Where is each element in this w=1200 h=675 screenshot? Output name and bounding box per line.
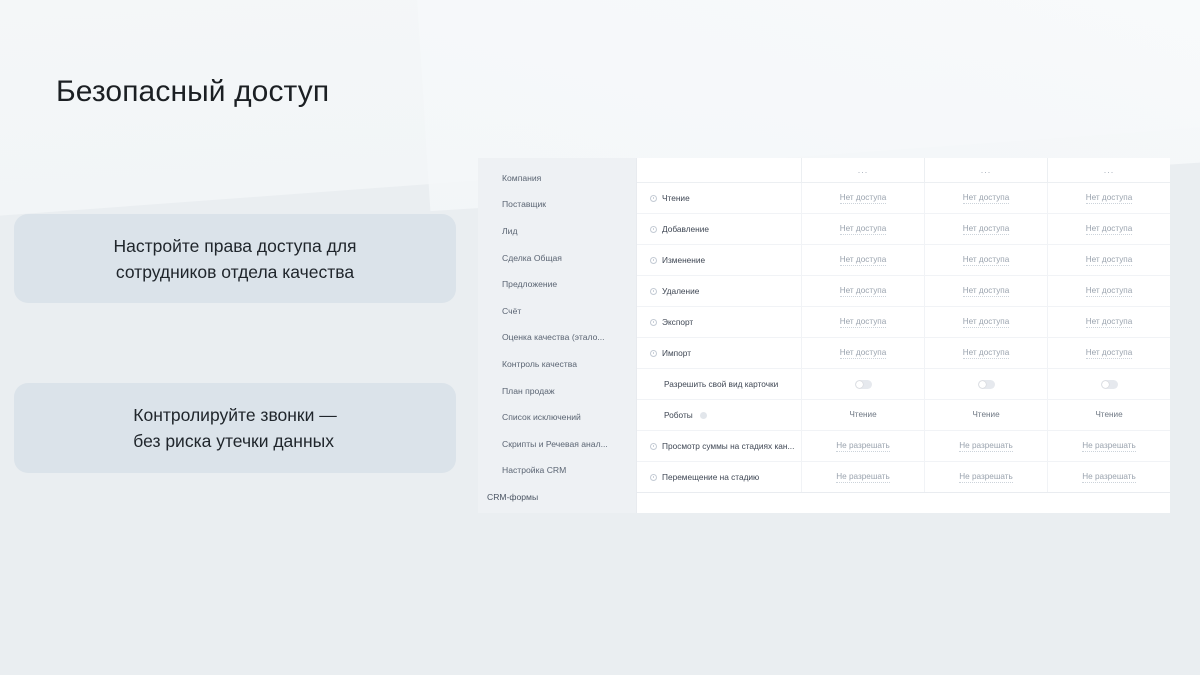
permission-value-cell[interactable]: Нет доступа [1047, 307, 1170, 337]
permission-name-cell: Добавление [637, 214, 801, 244]
permission-label: Роботы [664, 410, 693, 420]
permission-value: Чтение [849, 410, 876, 420]
table-row: ИмпортНет доступаНет доступаНет доступа [637, 338, 1170, 369]
table-row: ДобавлениеНет доступаНет доступаНет дост… [637, 214, 1170, 245]
permission-value-cell[interactable]: Нет доступа [1047, 338, 1170, 368]
permission-name-cell: Просмотр суммы на стадиях кан... [637, 431, 801, 461]
permission-label: Просмотр суммы на стадиях кан... [662, 441, 794, 451]
permission-value-cell[interactable]: Не разрешать [924, 462, 1047, 492]
permissions-table-header: ......... [637, 158, 1170, 183]
permission-label: Разрешить свой вид карточки [664, 379, 778, 389]
table-row: УдалениеНет доступаНет доступаНет доступ… [637, 276, 1170, 307]
sidebar-item-6[interactable]: Счёт [478, 298, 636, 325]
permission-value: Нет доступа [1086, 348, 1133, 359]
permission-label: Добавление [662, 224, 709, 234]
help-circle-icon[interactable] [700, 412, 707, 419]
sidebar-item-3[interactable]: Лид [478, 218, 636, 245]
permission-label: Перемещение на стадию [662, 472, 759, 482]
sidebar-item-4[interactable]: Сделка Общая [478, 245, 636, 272]
permission-value-cell[interactable]: Чтение [801, 400, 924, 430]
permission-value: Нет доступа [1086, 224, 1133, 235]
permission-value-cell[interactable]: Чтение [924, 400, 1047, 430]
radio-dot-icon [650, 288, 657, 295]
permission-value: Не разрешать [836, 441, 890, 452]
permission-name-cell: Удаление [637, 276, 801, 306]
header-cell-name [637, 158, 801, 182]
permission-value-cell[interactable]: Нет доступа [1047, 183, 1170, 213]
crm-permissions-screenshot: КомпанияПоставщикЛидСделка ОбщаяПредложе… [478, 158, 1170, 513]
sidebar-item-12[interactable]: Настройка CRM [478, 458, 636, 485]
permission-label: Изменение [662, 255, 705, 265]
column-header-menu-1[interactable]: ... [801, 158, 924, 182]
permission-value: Нет доступа [1086, 255, 1133, 266]
permission-value-cell[interactable]: Нет доступа [924, 214, 1047, 244]
permission-label: Импорт [662, 348, 691, 358]
toggle-switch[interactable] [978, 380, 995, 389]
permission-value: Не разрешать [959, 441, 1013, 452]
permission-value: Нет доступа [963, 348, 1010, 359]
permission-name-cell: Экспорт [637, 307, 801, 337]
permission-name-cell: Перемещение на стадию [637, 462, 801, 492]
sidebar-item-2[interactable]: Поставщик [478, 192, 636, 219]
permission-value-cell[interactable]: Нет доступа [801, 338, 924, 368]
permission-value-cell[interactable]: Нет доступа [924, 307, 1047, 337]
permission-value-cell[interactable]: Не разрешать [1047, 431, 1170, 461]
permission-name-cell: Изменение [637, 245, 801, 275]
radio-dot-icon [650, 226, 657, 233]
permission-value-cell[interactable]: Нет доступа [801, 276, 924, 306]
toggle-switch[interactable] [1101, 380, 1118, 389]
permission-toggle-cell[interactable] [924, 369, 1047, 399]
callout-text: Настройте права доступа для сотрудников … [95, 233, 374, 285]
permission-value: Нет доступа [1086, 317, 1133, 328]
table-row: Разрешить свой вид карточки [637, 369, 1170, 400]
permission-value: Нет доступа [1086, 286, 1133, 297]
table-row: РоботыЧтениеЧтениеЧтение [637, 400, 1170, 431]
sidebar-item-1[interactable]: Компания [478, 165, 636, 192]
radio-dot-icon [650, 443, 657, 450]
permission-value: Нет доступа [963, 193, 1010, 204]
callout-text: Контролируйте звонки — без риска утечки … [115, 402, 354, 454]
sidebar-item-8[interactable]: Контроль качества [478, 351, 636, 378]
permission-name-cell: Роботы [637, 400, 801, 430]
permission-value: Не разрешать [1082, 441, 1136, 452]
permission-value: Нет доступа [963, 317, 1010, 328]
permission-value: Нет доступа [840, 255, 887, 266]
sidebar-item-11[interactable]: Скрипты и Речевая анал... [478, 431, 636, 458]
sidebar-item-7[interactable]: Оценка качества (этало... [478, 325, 636, 352]
permission-value-cell[interactable]: Нет доступа [801, 307, 924, 337]
permission-value-cell[interactable]: Нет доступа [924, 338, 1047, 368]
table-row: Просмотр суммы на стадиях кан...Не разре… [637, 431, 1170, 462]
permission-label: Удаление [662, 286, 699, 296]
permission-value-cell[interactable]: Нет доступа [924, 183, 1047, 213]
permission-value: Нет доступа [840, 348, 887, 359]
permission-value-cell[interactable]: Не разрешать [801, 431, 924, 461]
permission-name-cell: Разрешить свой вид карточки [637, 369, 801, 399]
table-row: ЧтениеНет доступаНет доступаНет доступа [637, 183, 1170, 214]
permissions-table-body: ЧтениеНет доступаНет доступаНет доступаД… [637, 183, 1170, 493]
permission-name-cell: Чтение [637, 183, 801, 213]
toggle-switch[interactable] [855, 380, 872, 389]
table-row: ИзменениеНет доступаНет доступаНет досту… [637, 245, 1170, 276]
permission-value-cell[interactable]: Нет доступа [924, 245, 1047, 275]
radio-dot-icon [650, 474, 657, 481]
permission-value-cell[interactable]: Чтение [1047, 400, 1170, 430]
permission-value: Нет доступа [840, 317, 887, 328]
permission-value: Нет доступа [1086, 193, 1133, 204]
permission-value-cell[interactable]: Нет доступа [924, 276, 1047, 306]
radio-dot-icon [650, 319, 657, 326]
permission-value: Нет доступа [840, 193, 887, 204]
permission-value: Нет доступа [840, 224, 887, 235]
permission-value-cell[interactable]: Не разрешать [801, 462, 924, 492]
sidebar-item-13[interactable]: CRM-формы [478, 484, 636, 511]
permission-value-cell[interactable]: Нет доступа [1047, 276, 1170, 306]
radio-dot-icon [650, 257, 657, 264]
sidebar-item-14[interactable]: Виджеты на сайте [478, 511, 636, 513]
sidebar-item-5[interactable]: Предложение [478, 271, 636, 298]
permission-value-cell[interactable]: Не разрешать [924, 431, 1047, 461]
permission-value-cell[interactable]: Не разрешать [1047, 462, 1170, 492]
permission-value: Нет доступа [963, 286, 1010, 297]
permission-toggle-cell[interactable] [1047, 369, 1170, 399]
permission-label: Чтение [662, 193, 690, 203]
sidebar-item-9[interactable]: План продаж [478, 378, 636, 405]
permission-value: Чтение [1095, 410, 1122, 420]
permissions-table: ......... ЧтениеНет доступаНет доступаНе… [636, 158, 1170, 513]
permission-value: Не разрешать [1082, 472, 1136, 483]
permission-value: Не разрешать [836, 472, 890, 483]
column-header-menu-2[interactable]: ... [924, 158, 1047, 182]
screenshot-sidebar-nav[interactable]: КомпанияПоставщикЛидСделка ОбщаяПредложе… [478, 158, 636, 513]
table-row: ЭкспортНет доступаНет доступаНет доступа [637, 307, 1170, 338]
permission-name-cell: Импорт [637, 338, 801, 368]
table-row: Перемещение на стадиюНе разрешатьНе разр… [637, 462, 1170, 493]
page-title: Безопасный доступ [56, 72, 329, 112]
column-header-menu-3[interactable]: ... [1047, 158, 1170, 182]
permission-value-cell[interactable]: Нет доступа [801, 183, 924, 213]
permission-value-cell[interactable]: Нет доступа [1047, 245, 1170, 275]
permission-value: Нет доступа [963, 224, 1010, 235]
callout-card-access-rights: Настройте права доступа для сотрудников … [14, 214, 456, 303]
callout-card-call-control: Контролируйте звонки — без риска утечки … [14, 383, 456, 473]
permission-value-cell[interactable]: Нет доступа [1047, 214, 1170, 244]
permission-label: Экспорт [662, 317, 693, 327]
permission-value-cell[interactable]: Нет доступа [801, 214, 924, 244]
permission-value: Нет доступа [963, 255, 1010, 266]
permission-value: Чтение [972, 410, 999, 420]
sidebar-item-10[interactable]: Список исключений [478, 404, 636, 431]
permission-value-cell[interactable]: Нет доступа [801, 245, 924, 275]
permission-toggle-cell[interactable] [801, 369, 924, 399]
permission-value: Не разрешать [959, 472, 1013, 483]
radio-dot-icon [650, 195, 657, 202]
radio-dot-icon [650, 350, 657, 357]
permission-value: Нет доступа [840, 286, 887, 297]
